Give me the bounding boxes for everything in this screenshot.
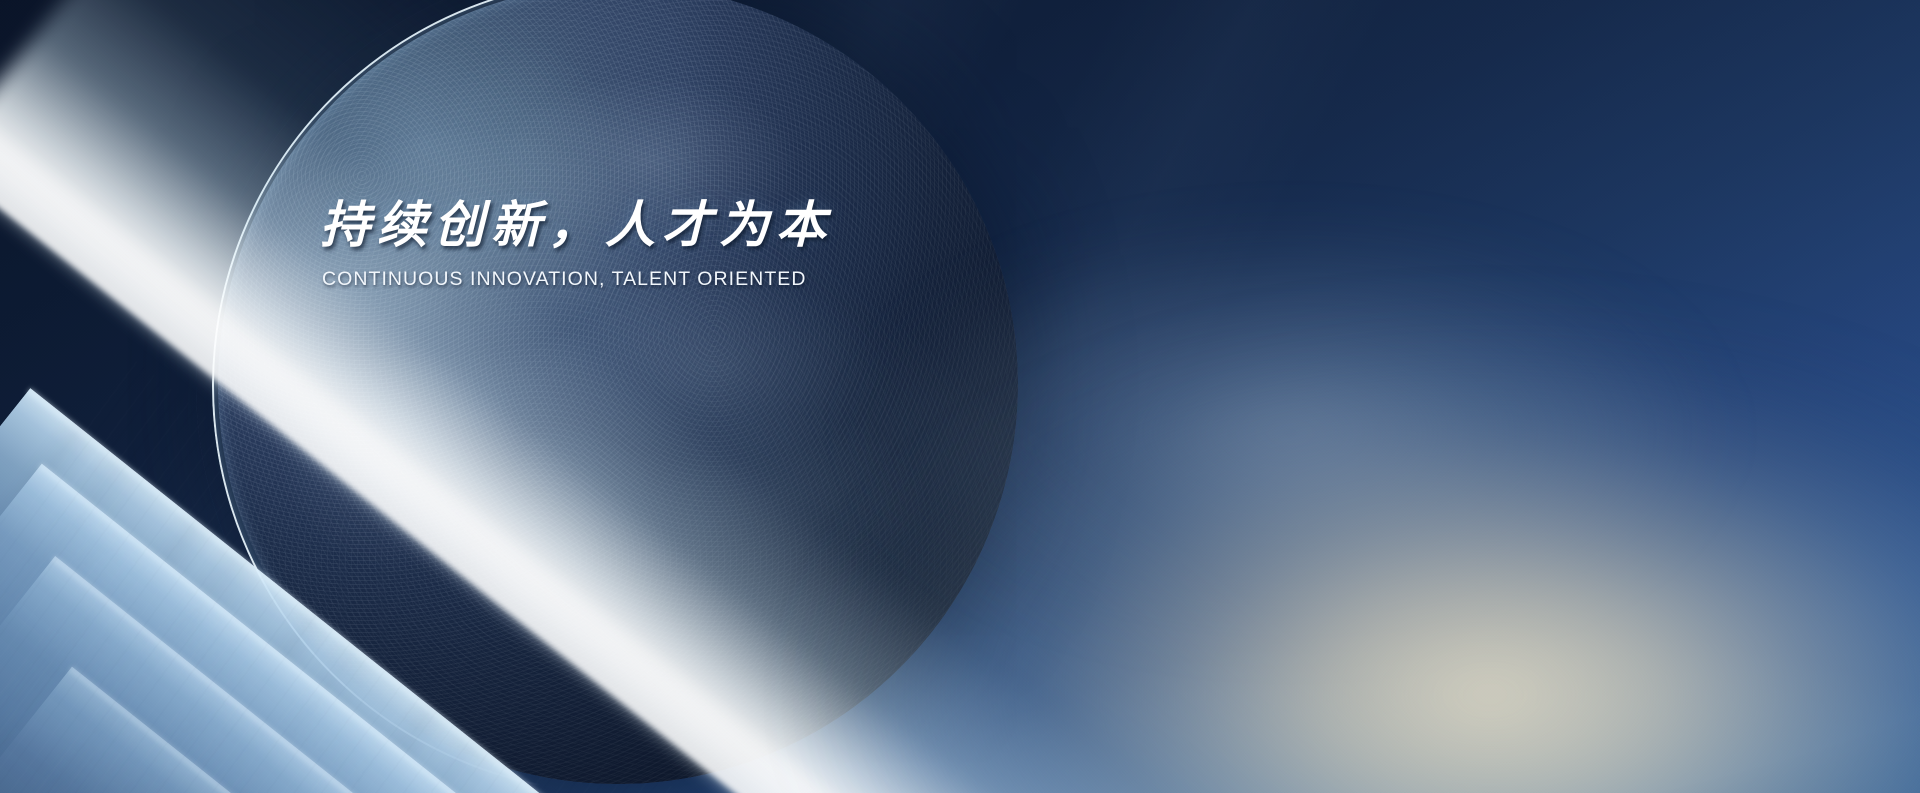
- small-moon: [84, 550, 162, 628]
- banner-copy: 持续创新，人才为本 CONTINUOUS INNOVATION, TALENT …: [320, 196, 833, 291]
- banner-headline: 持续创新，人才为本: [320, 196, 833, 254]
- moon-crater-texture: [84, 550, 162, 628]
- hero-banner: 持续创新，人才为本 CONTINUOUS INNOVATION, TALENT …: [0, 0, 1920, 793]
- banner-subtitle: CONTINUOUS INNOVATION, TALENT ORIENTED: [322, 268, 833, 291]
- planet-terminator-shading: [218, 0, 1018, 784]
- large-planet: [218, 0, 1018, 784]
